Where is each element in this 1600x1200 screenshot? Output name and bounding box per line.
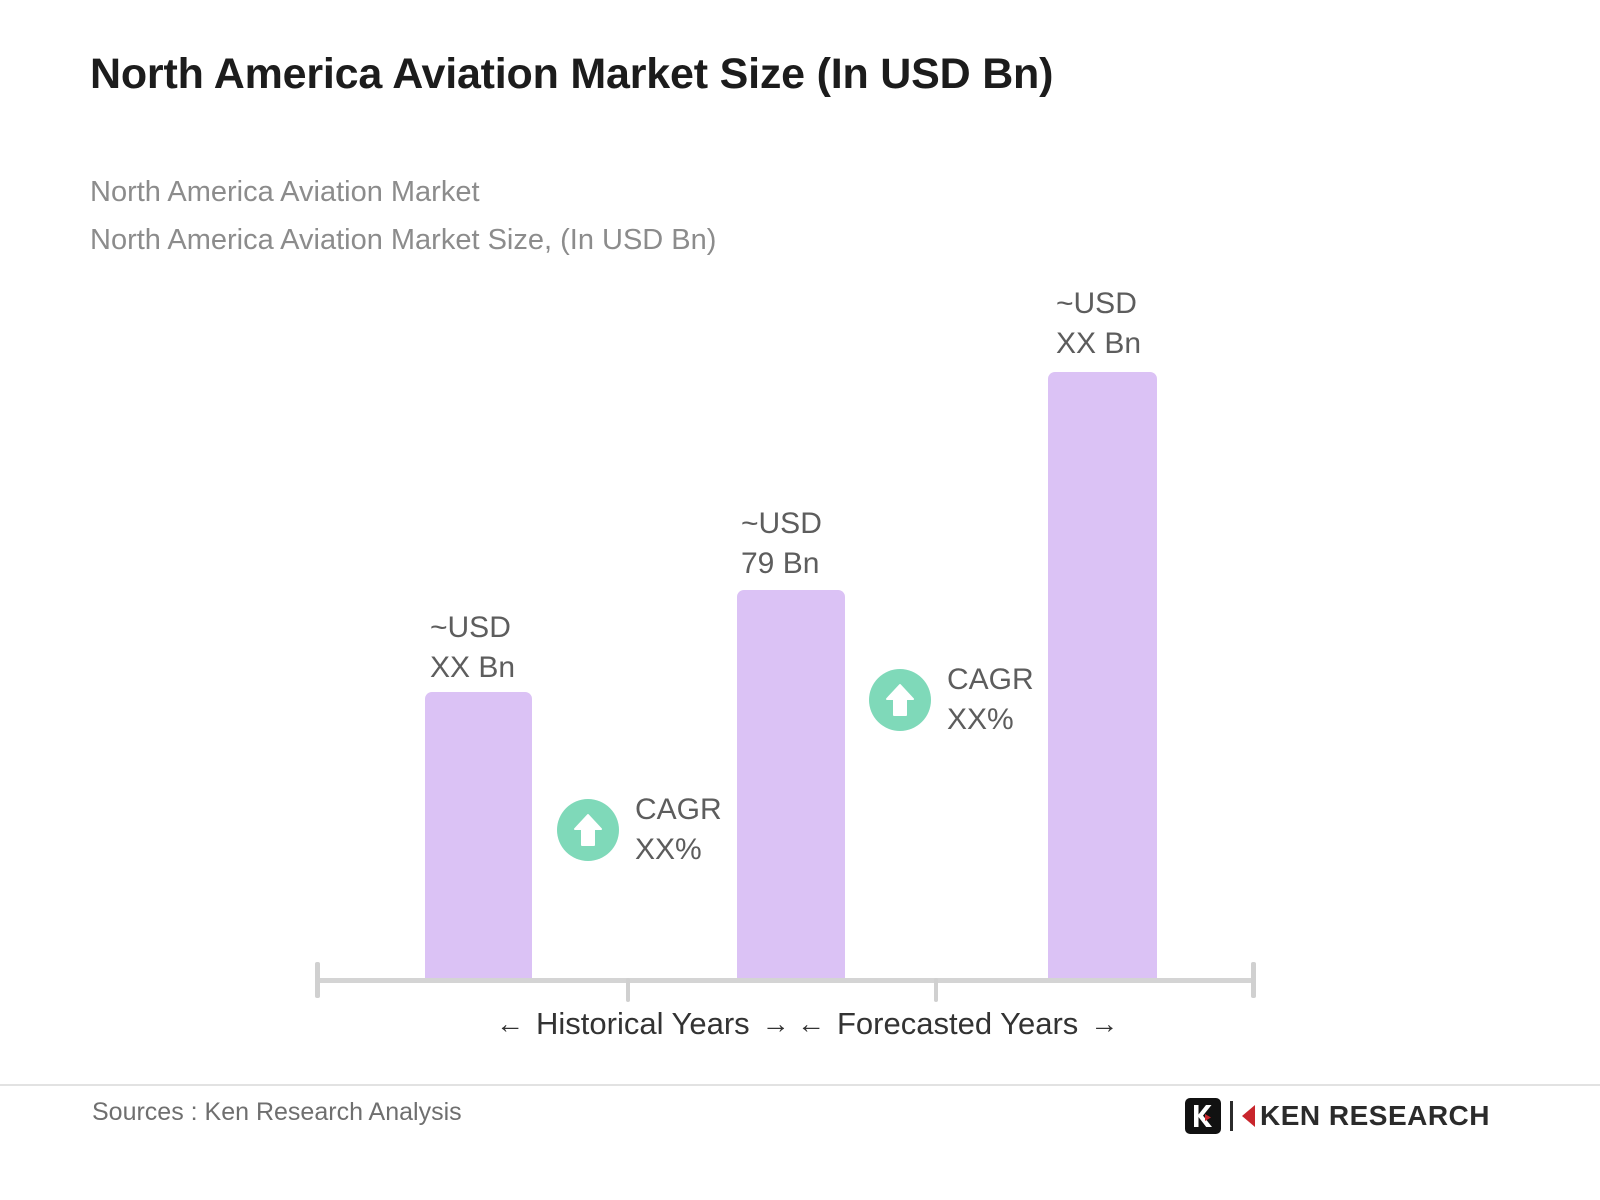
ken-research-logo-mark bbox=[1185, 1098, 1221, 1134]
cagr-badge-forecast[interactable]: CAGR XX% bbox=[869, 660, 1034, 740]
ken-research-logo-text: KEN RESEARCH bbox=[1242, 1102, 1490, 1130]
bar-value-label-current-line2: 79 Bn bbox=[741, 544, 822, 584]
up-arrow-icon bbox=[869, 669, 931, 731]
bar-value-label-current-line1: ~USD bbox=[741, 504, 822, 544]
left-arrow-icon: ← bbox=[496, 1010, 524, 1038]
bar-value-label-current: ~USD 79 Bn bbox=[741, 504, 822, 584]
cagr-badge-forecast-line2: XX% bbox=[947, 700, 1034, 740]
x-axis-cap-right bbox=[1251, 962, 1256, 998]
bar-value-label-historical-line1: ~USD bbox=[430, 608, 515, 648]
slide-canvas: North America Aviation Market Size (In U… bbox=[0, 0, 1600, 1200]
x-axis-cap-left bbox=[315, 962, 320, 998]
up-arrow-icon bbox=[557, 799, 619, 861]
axis-caption-historical-label: Historical Years bbox=[536, 1006, 750, 1042]
ken-research-logo: KEN RESEARCH bbox=[1185, 1098, 1490, 1134]
cagr-badge-historical[interactable]: CAGR XX% bbox=[557, 790, 722, 870]
bar-value-label-historical: ~USD XX Bn bbox=[430, 608, 515, 688]
bar-historical[interactable] bbox=[425, 692, 532, 980]
x-axis-tick-1 bbox=[626, 978, 630, 1002]
bar-value-label-forecast-line2: XX Bn bbox=[1056, 324, 1141, 364]
axis-caption-historical: ← Historical Years → bbox=[496, 1006, 790, 1042]
bar-chart: ~USD XX Bn ~USD 79 Bn ~USD XX Bn CAGR XX… bbox=[0, 0, 1600, 1070]
bar-value-label-forecast-line1: ~USD bbox=[1056, 284, 1141, 324]
footer-source-text: Sources : Ken Research Analysis bbox=[92, 1098, 462, 1127]
bar-value-label-forecast: ~USD XX Bn bbox=[1056, 284, 1141, 364]
bar-value-label-historical-line2: XX Bn bbox=[430, 648, 515, 688]
axis-caption-forecast-label: Forecasted Years bbox=[837, 1006, 1078, 1042]
ken-research-logo-wordmark: KEN RESEARCH bbox=[1260, 1102, 1490, 1130]
right-arrow-icon: → bbox=[762, 1010, 790, 1038]
cagr-badge-historical-line2: XX% bbox=[635, 830, 722, 870]
footer-divider bbox=[0, 1084, 1600, 1086]
logo-red-accent-icon bbox=[1242, 1105, 1255, 1127]
bar-forecast[interactable] bbox=[1048, 372, 1157, 980]
left-arrow-icon: ← bbox=[797, 1010, 825, 1038]
cagr-badge-forecast-line1: CAGR bbox=[947, 660, 1034, 700]
axis-caption-forecast: ← Forecasted Years → bbox=[797, 1006, 1118, 1042]
x-axis-tick-2 bbox=[934, 978, 938, 1002]
logo-divider bbox=[1230, 1101, 1233, 1131]
cagr-badge-historical-text: CAGR XX% bbox=[635, 790, 722, 870]
bar-current[interactable] bbox=[737, 590, 845, 980]
x-axis-line bbox=[315, 978, 1255, 983]
cagr-badge-forecast-text: CAGR XX% bbox=[947, 660, 1034, 740]
cagr-badge-historical-line1: CAGR bbox=[635, 790, 722, 830]
right-arrow-icon: → bbox=[1090, 1010, 1118, 1038]
